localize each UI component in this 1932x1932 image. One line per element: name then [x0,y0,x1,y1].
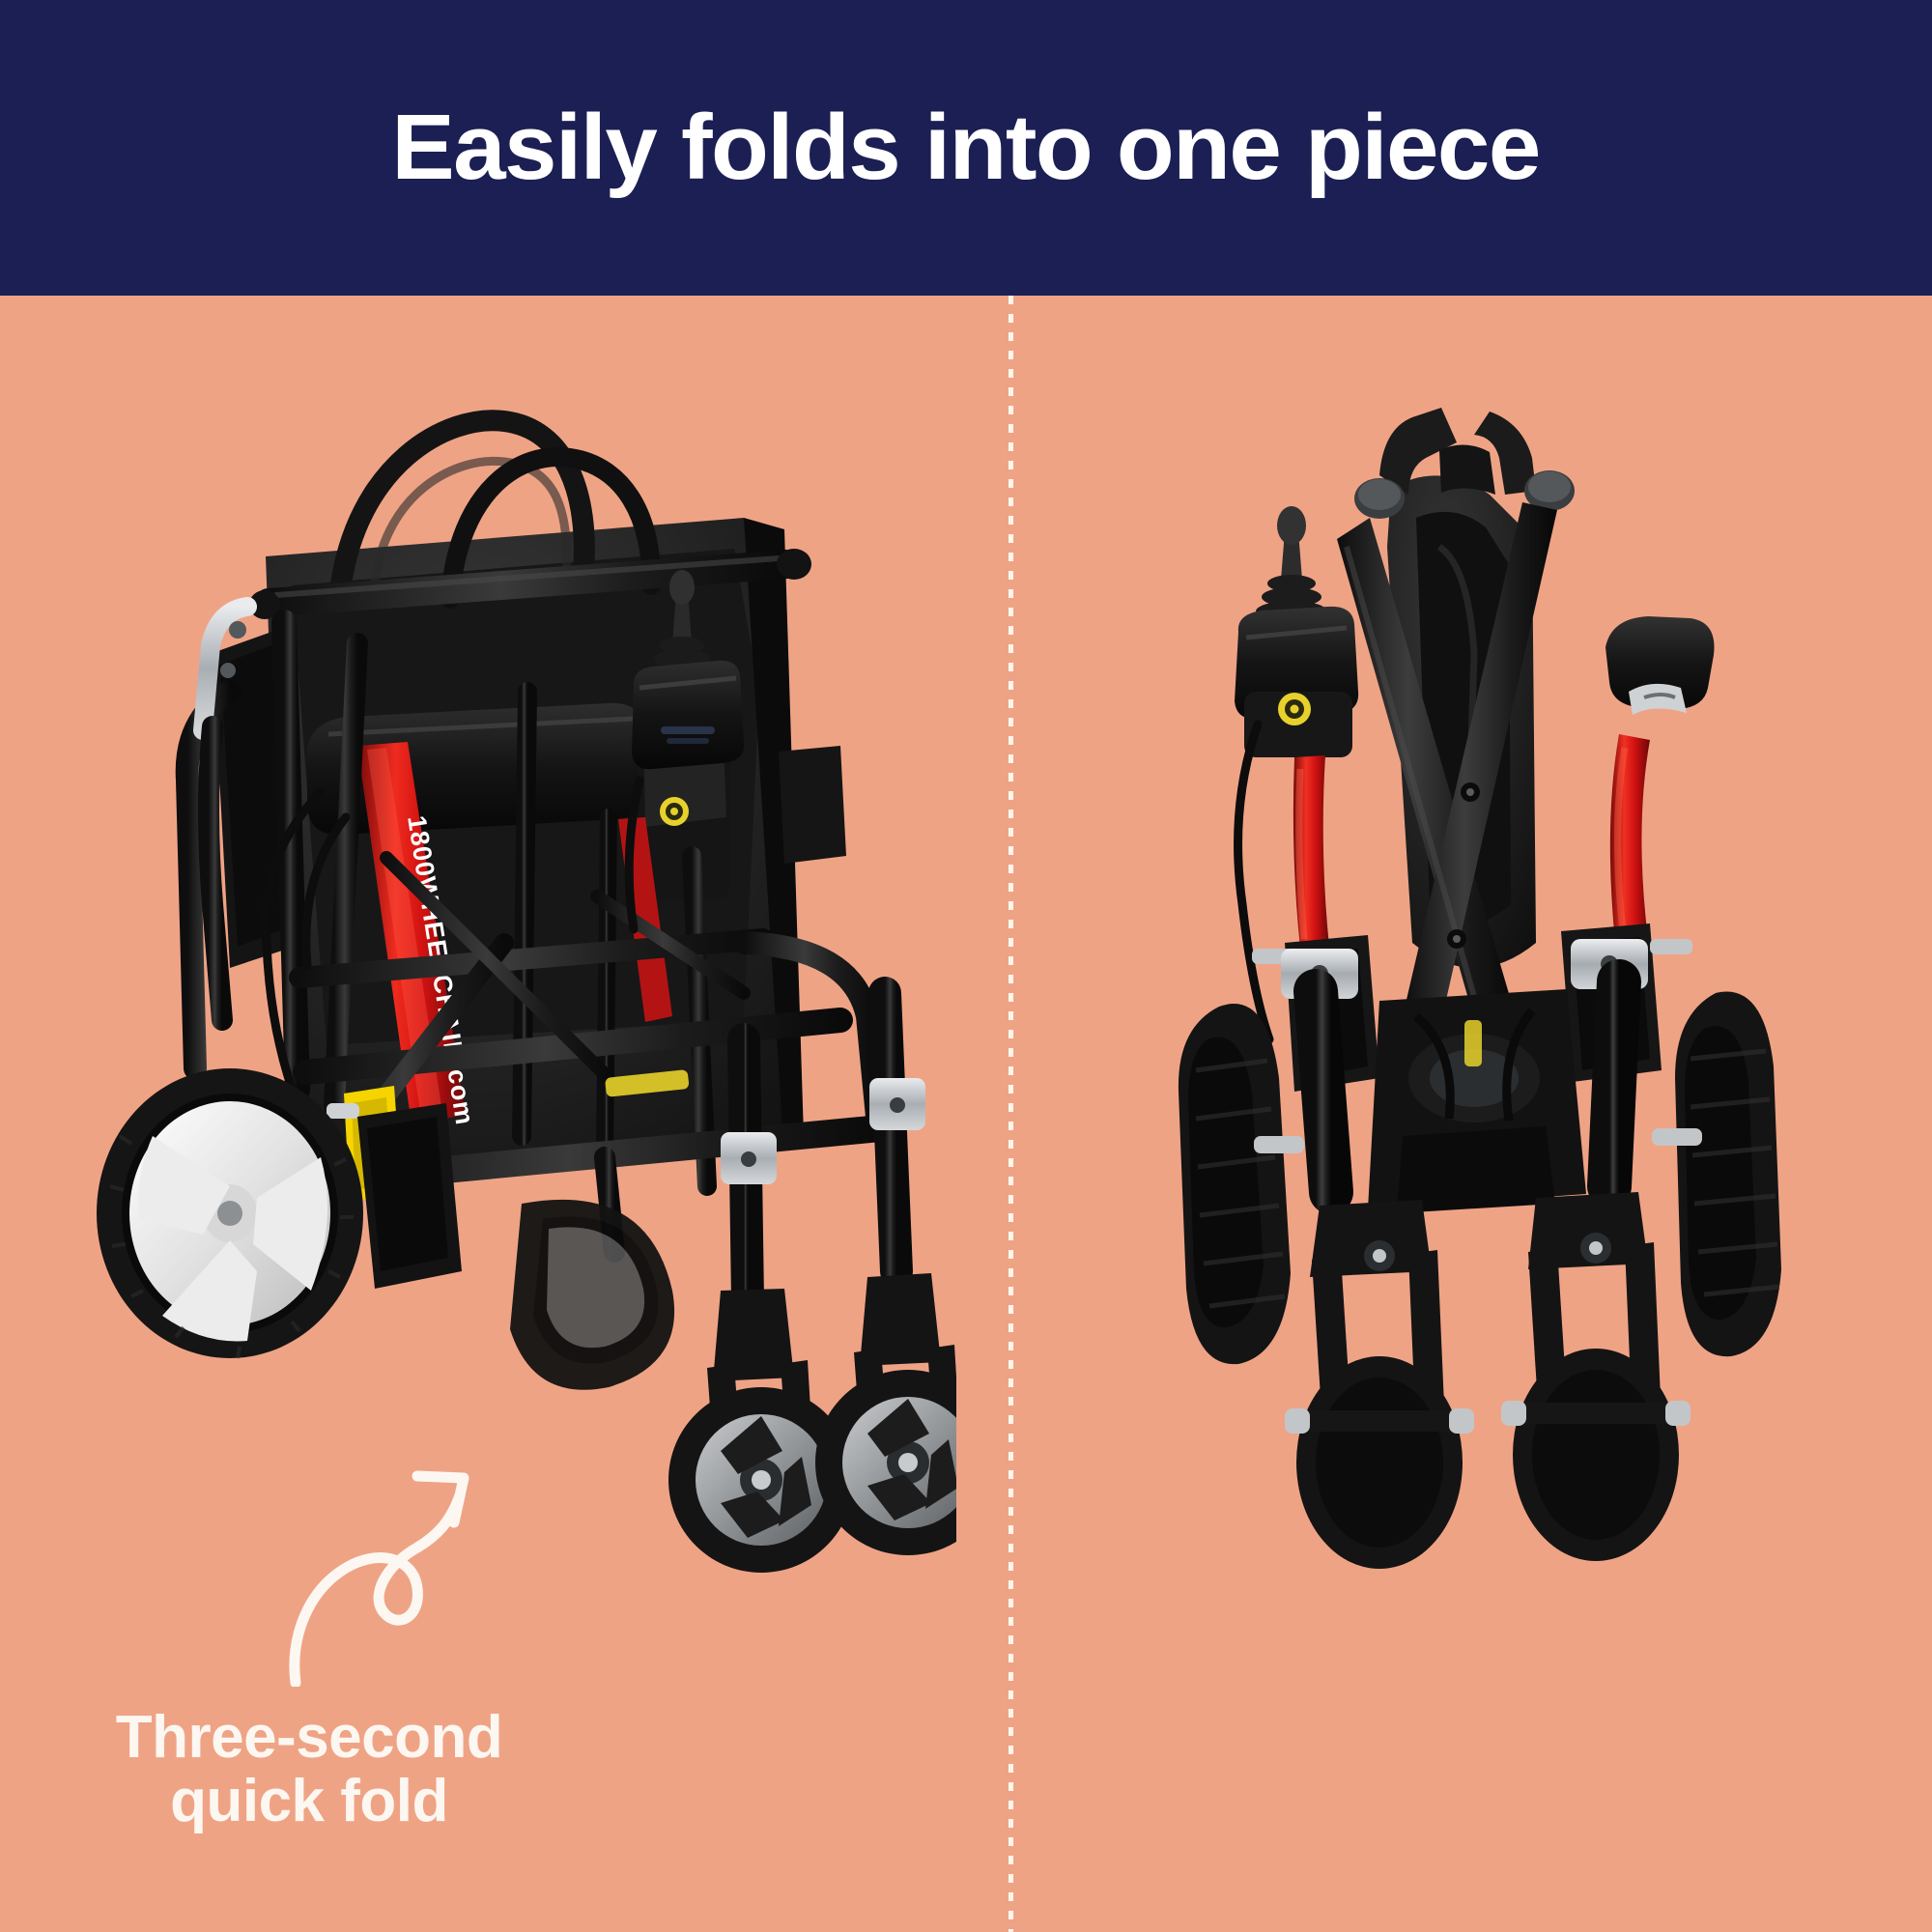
panel-divider [1009,296,1013,1932]
product-image-left: 1800WHEELCHAIR.com [68,402,956,1590]
carry-straps [1379,408,1536,495]
axle-bolt-left [1254,1136,1304,1153]
hand-grip [1605,616,1715,715]
front-caster-right [815,1273,956,1555]
product-stage: 1800WHEELCHAIR.com [0,296,1932,1932]
promo-graphic: Easily folds into one piece [0,0,1932,1932]
product-image-right [1150,402,1826,1590]
drive-wheel-right [1675,992,1781,1357]
header-banner: Easily folds into one piece [0,0,1932,296]
front-caster-left [1285,1200,1474,1569]
axle-bolt-right [1652,1128,1702,1146]
rear-wheel-right [510,1200,674,1390]
rear-wheel-left [97,1068,363,1358]
controller-cable [1238,724,1269,1039]
drive-wheel-left [1179,1004,1291,1364]
battery-box [357,1103,462,1289]
gearbox [1368,989,1586,1213]
page-title: Easily folds into one piece [392,101,1540,194]
front-caster-right [1501,1192,1690,1561]
caption-text: Three-second quick fold [58,1706,560,1833]
